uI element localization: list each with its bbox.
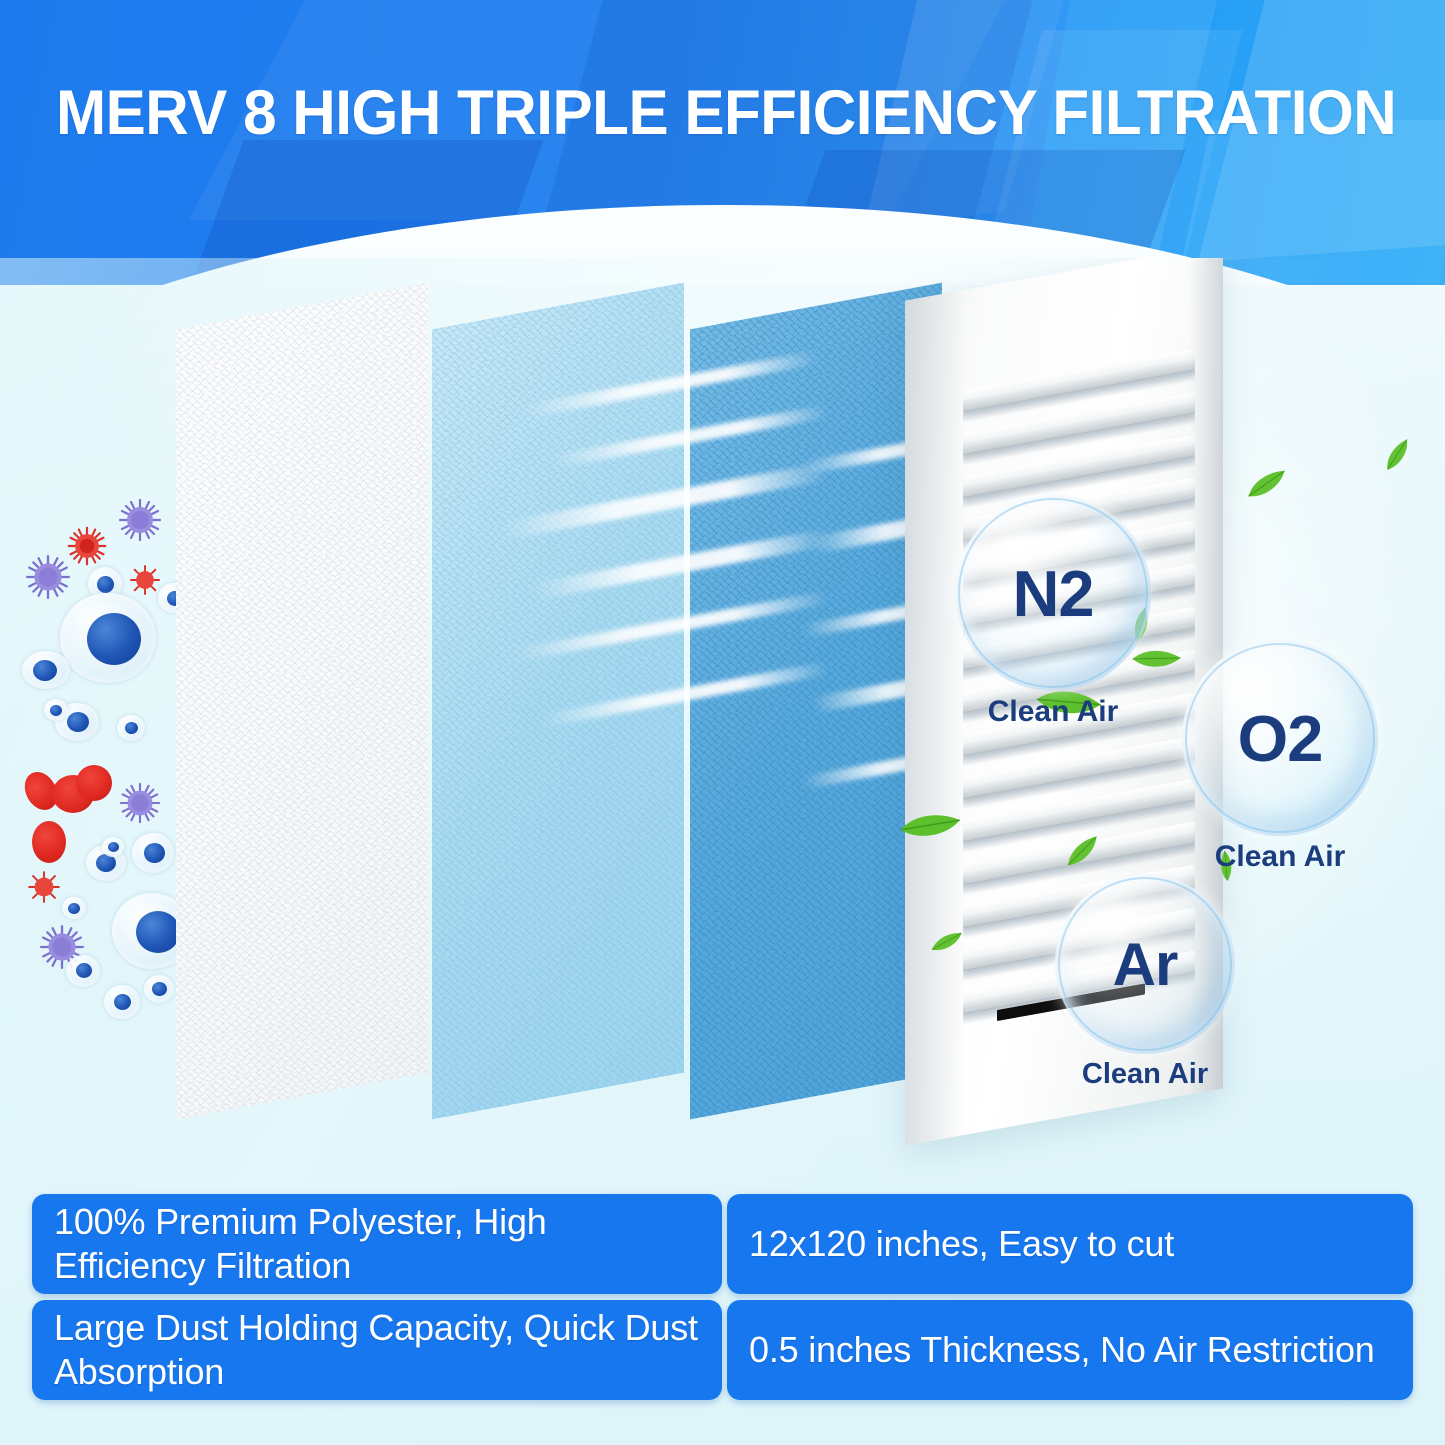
- gas-bubble-o2: O2 Clean Air: [1182, 640, 1378, 874]
- cell-particle: [144, 975, 174, 1003]
- filter-layer-1: [176, 283, 428, 1120]
- bubble-symbol: N2: [1012, 556, 1093, 631]
- red-blood-cell: [76, 765, 112, 801]
- feature-text: 0.5 inches Thickness, No Air Restriction: [749, 1328, 1375, 1372]
- bubble-sphere: Ar: [1055, 874, 1235, 1054]
- feature-box: 12x120 inches, Easy to cut: [727, 1194, 1413, 1294]
- cell-particle: [132, 833, 174, 873]
- cell-particle: [62, 897, 86, 919]
- feature-box: 100% Premium Polyester, High Efficiency …: [32, 1194, 722, 1294]
- airflow-streak: [501, 462, 829, 540]
- airflow-streak: [541, 662, 829, 728]
- bubble-caption: Clean Air: [1182, 840, 1378, 874]
- bubble-symbol: Ar: [1113, 930, 1178, 999]
- bubble-sphere: O2: [1182, 640, 1378, 836]
- feature-text: 100% Premium Polyester, High Efficiency …: [54, 1200, 700, 1288]
- virus-icon: [66, 525, 108, 572]
- airflow-streak: [551, 405, 829, 469]
- feature-list: 100% Premium Polyester, High Efficiency …: [0, 1192, 1445, 1407]
- feature-box: 0.5 inches Thickness, No Air Restriction: [727, 1300, 1413, 1400]
- cell-particle: [44, 699, 68, 721]
- airflow-streak: [531, 529, 829, 600]
- filter-layer-1-surface: [176, 283, 428, 1120]
- gas-bubble-n2: N2 Clean Air: [955, 495, 1151, 729]
- virus-icon: [128, 563, 162, 602]
- virus-icon: [117, 497, 163, 548]
- bubble-sphere: N2: [955, 495, 1151, 691]
- page-title: MERV 8 HIGH TRIPLE EFFICIENCY FILTRATION: [56, 78, 1345, 148]
- gas-bubble-ar: Ar Clean Air: [1055, 874, 1235, 1091]
- feature-box: Large Dust Holding Capacity, Quick Dust …: [32, 1300, 722, 1400]
- cell-particle: [60, 593, 156, 683]
- feature-text: 12x120 inches, Easy to cut: [749, 1222, 1174, 1266]
- bubble-caption: Clean Air: [955, 695, 1151, 729]
- airflow-streak: [511, 591, 828, 662]
- red-blood-cell: [32, 821, 66, 863]
- virus-icon: [118, 781, 162, 830]
- header-banner: MERV 8 HIGH TRIPLE EFFICIENCY FILTRATION: [0, 0, 1445, 285]
- cell-particle: [102, 837, 124, 857]
- virus-icon: [24, 553, 72, 606]
- product-infographic: MERV 8 HIGH TRIPLE EFFICIENCY FILTRATION: [0, 0, 1445, 1445]
- bubble-symbol: O2: [1238, 701, 1323, 776]
- feature-text: Large Dust Holding Capacity, Quick Dust …: [54, 1306, 700, 1394]
- bubble-caption: Clean Air: [1055, 1058, 1235, 1091]
- airflow-streak: [521, 351, 818, 418]
- product-illustration: N2 Clean Air O2 Clean Air Ar Clean Air: [0, 258, 1445, 1188]
- cell-particle: [66, 955, 100, 987]
- cell-particle: [22, 651, 70, 689]
- cell-particle: [117, 715, 145, 741]
- cell-particle: [104, 985, 140, 1019]
- virus-icon: [26, 869, 62, 910]
